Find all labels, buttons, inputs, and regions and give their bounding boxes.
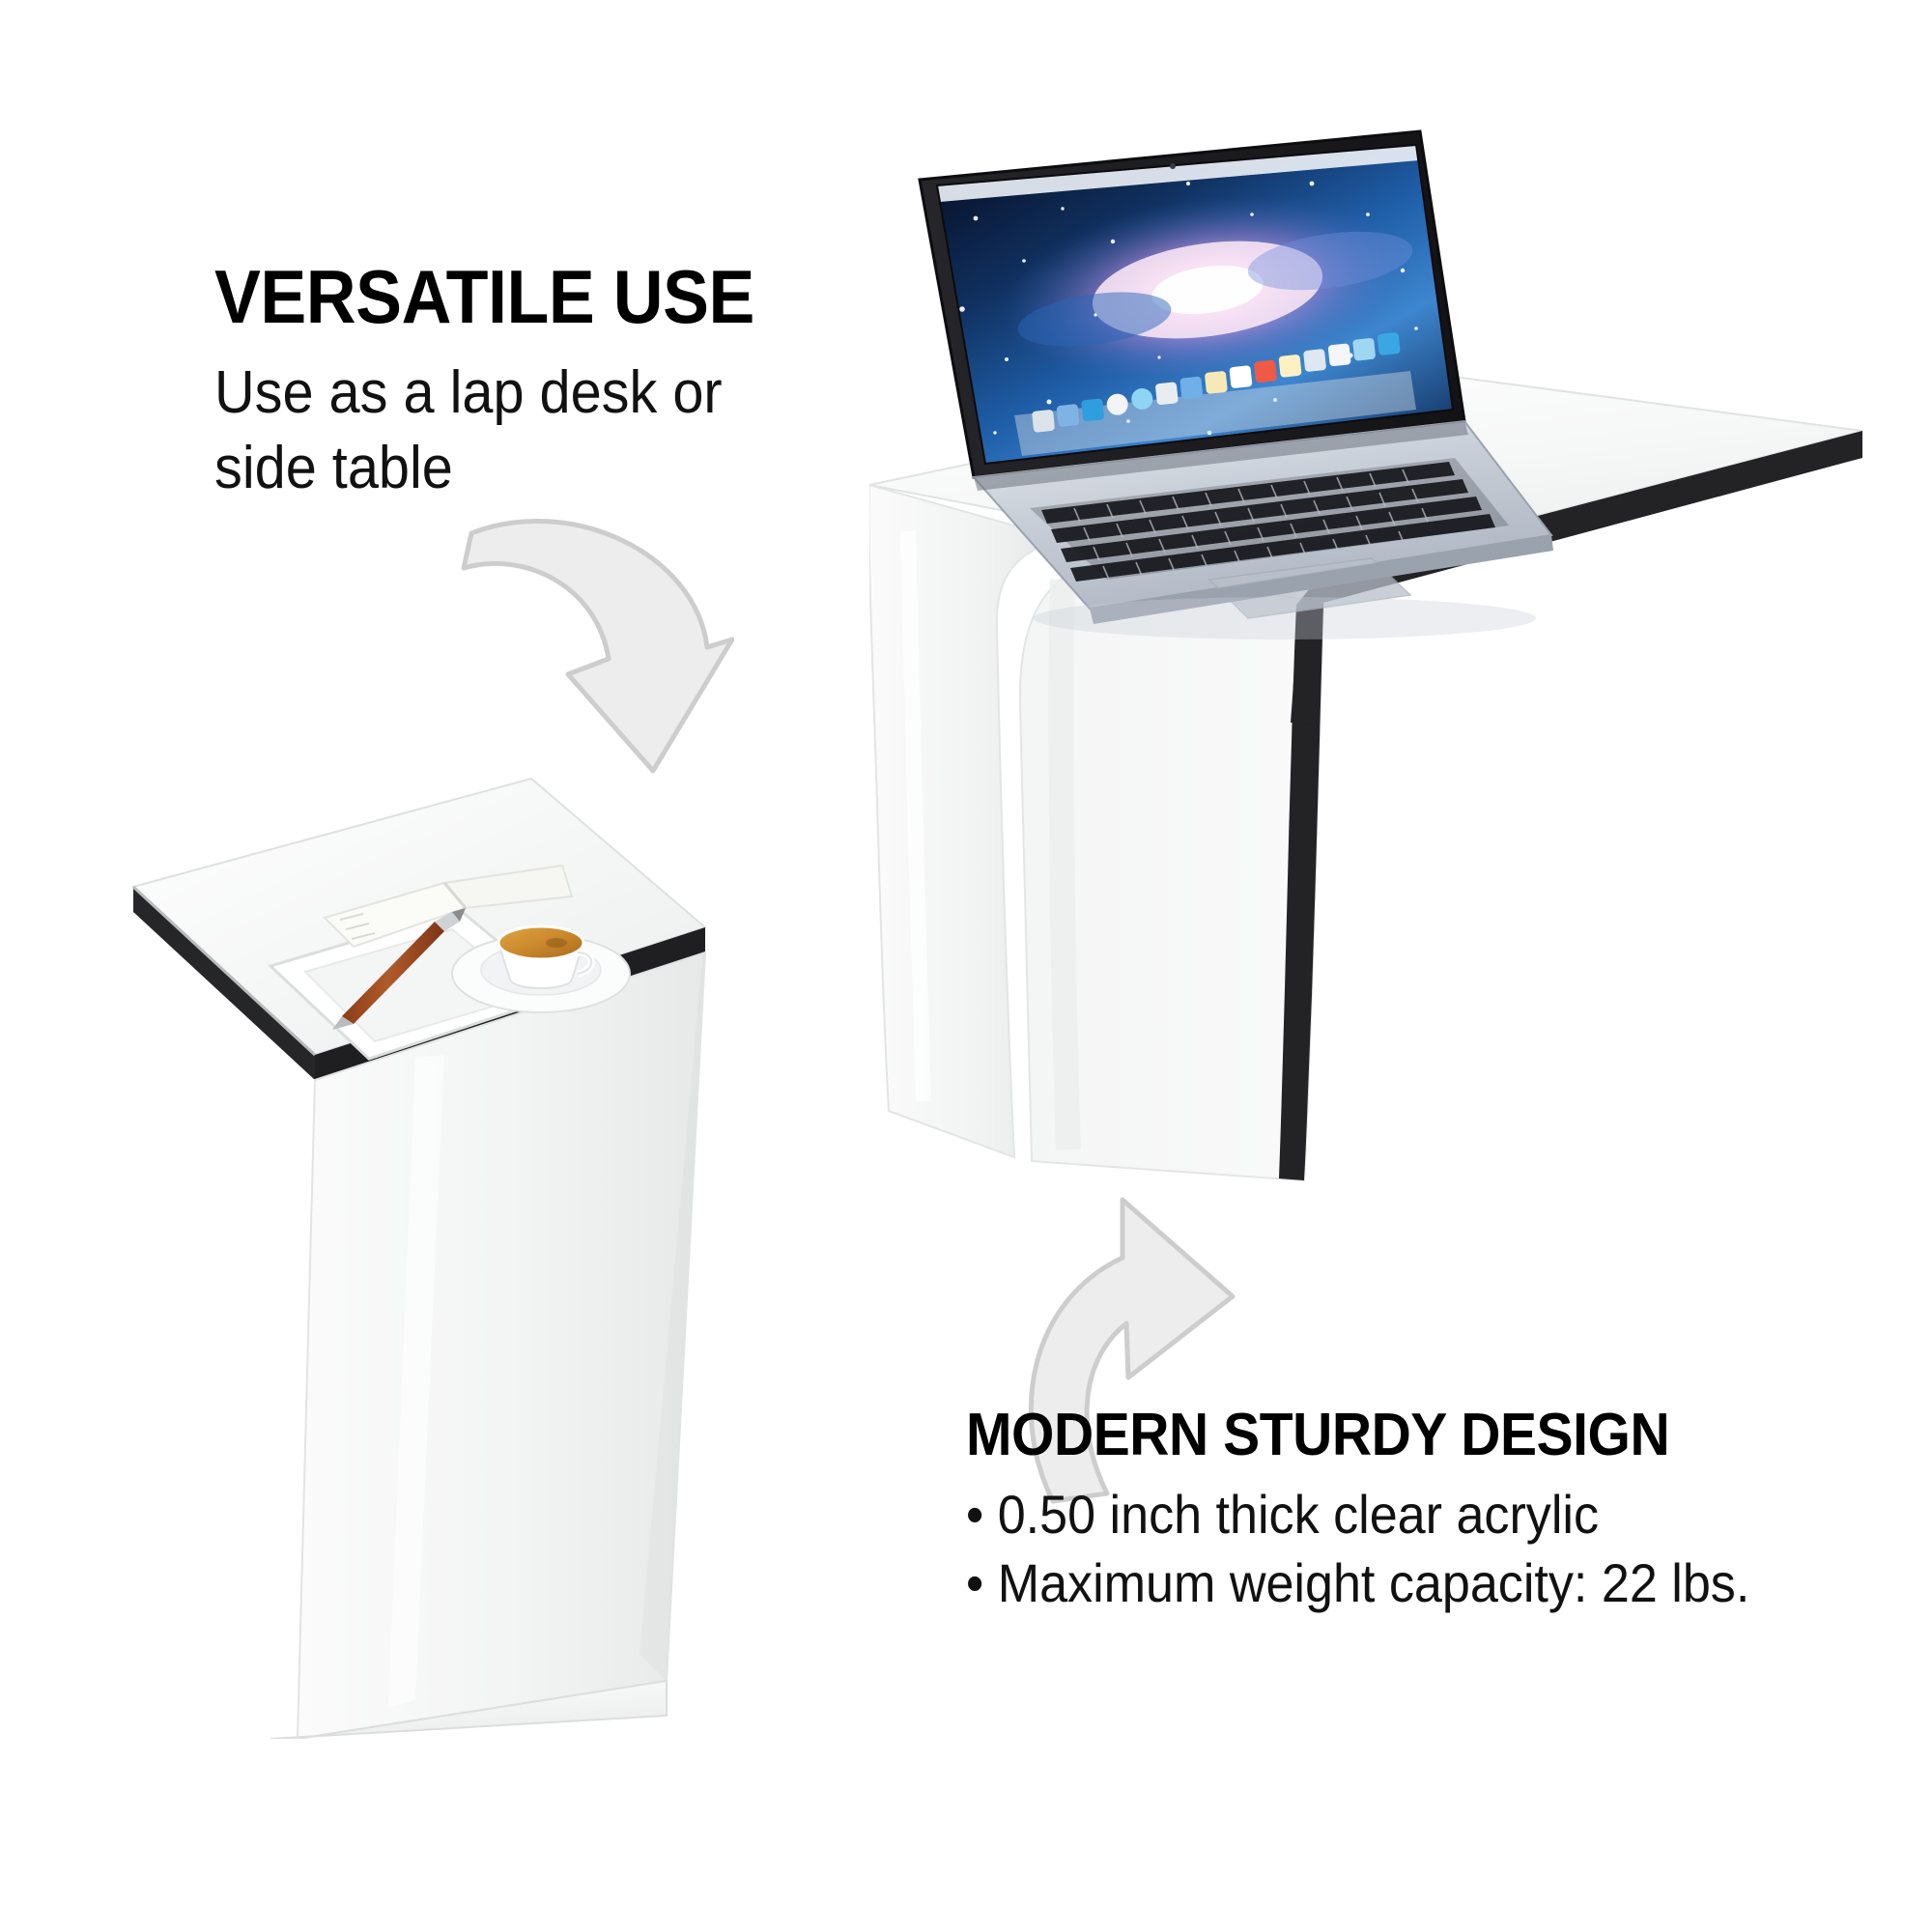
versatile-use-text-block: VERSATILE USE Use as a lap desk or side …: [214, 259, 833, 506]
laptop-lid: [920, 131, 1464, 477]
bullet-weight-capacity: • Maximum weight capacity: 22 lbs.: [966, 1549, 1775, 1618]
bullet-thickness: • 0.50 inch thick clear acrylic: [966, 1481, 1775, 1549]
desk-product-photo: [869, 126, 1864, 1198]
laptop-shadow: [1034, 597, 1536, 639]
modern-sturdy-design-bullets: • 0.50 inch thick clear acrylic • Maximu…: [966, 1481, 1775, 1617]
side-table-product-photo: [126, 773, 840, 1739]
modern-sturdy-design-text-block: MODERN STURDY DESIGN • 0.50 inch thick c…: [966, 1406, 1835, 1617]
infographic-canvas: VERSATILE USE Use as a lap desk or side …: [0, 0, 1932, 1932]
modern-sturdy-design-heading: MODERN STURDY DESIGN: [966, 1406, 1766, 1465]
versatile-use-body: Use as a lap desk or side table: [214, 355, 808, 506]
versatile-use-heading: VERSATILE USE: [214, 259, 783, 334]
desk-leg-front-panel: [1020, 562, 1323, 1180]
